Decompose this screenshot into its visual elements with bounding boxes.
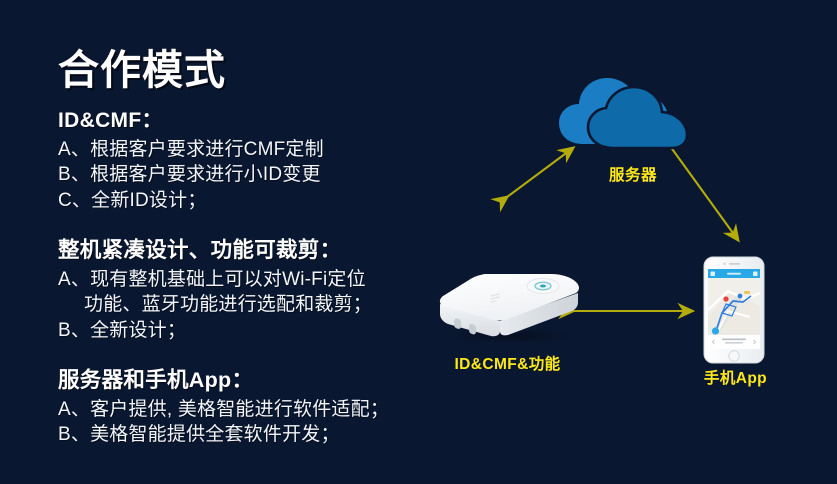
section-server-and-app: 服务器和手机App： A、客户提供, 美格智能进行软件适配； B、美格智能提供全… bbox=[58, 363, 389, 448]
phone-label: 手机App bbox=[678, 366, 793, 388]
section-heading: ID&CMF： bbox=[58, 104, 324, 134]
section-line: B、根据客户要求进行小ID变更 bbox=[58, 162, 324, 187]
content-column: 合作模式 ID&CMF： A、根据客户要求进行CMF定制 B、根据客户要求进行小… bbox=[0, 0, 430, 484]
section-heading: 整机紧凑设计、功能可裁剪： bbox=[58, 233, 372, 264]
connector-device-cloud bbox=[507, 148, 573, 197]
section-line: A、客户提供, 美格智能进行软件适配； bbox=[58, 397, 389, 422]
phone-icon bbox=[702, 255, 766, 365]
section-compact-design: 整机紧凑设计、功能可裁剪： A、现有整机基础上可以对Wi-Fi定位 功能、蓝牙功… bbox=[58, 233, 372, 343]
cloud-icon bbox=[555, 72, 705, 152]
device-icon bbox=[433, 268, 583, 343]
slide-canvas: 合作模式 ID&CMF： A、根据客户要求进行CMF定制 B、根据客户要求进行小… bbox=[0, 0, 837, 484]
section-line: 功能、蓝牙功能进行选配和裁剪； bbox=[58, 292, 372, 317]
section-line: A、根据客户要求进行CMF定制 bbox=[58, 137, 324, 162]
connector-cloud-phone bbox=[670, 146, 738, 240]
section-id-cmf: ID&CMF： A、根据客户要求进行CMF定制 B、根据客户要求进行小ID变更 … bbox=[58, 104, 324, 213]
page-title: 合作模式 bbox=[58, 36, 226, 96]
section-line: A、现有整机基础上可以对Wi-Fi定位 bbox=[58, 267, 372, 292]
architecture-diagram: 服务器 bbox=[420, 0, 837, 484]
section-line: C、全新ID设计； bbox=[58, 188, 324, 213]
device-label: ID&CMF&功能 bbox=[420, 352, 595, 374]
section-line: B、美格智能提供全套软件开发； bbox=[58, 422, 389, 447]
section-heading: 服务器和手机App： bbox=[58, 363, 389, 394]
section-line: B、全新设计； bbox=[58, 318, 372, 343]
cloud-label: 服务器 bbox=[588, 163, 678, 185]
